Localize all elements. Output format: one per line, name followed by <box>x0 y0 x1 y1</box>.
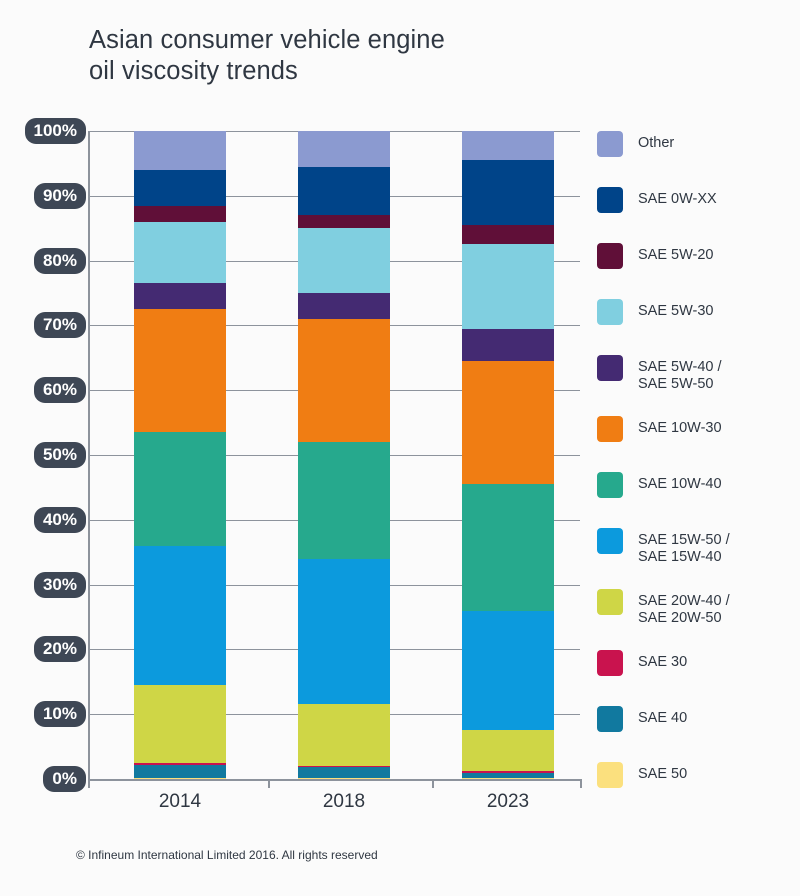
bar-segment[interactable] <box>462 484 554 610</box>
bar-segment[interactable] <box>134 763 226 765</box>
bar-segment[interactable] <box>462 244 554 328</box>
legend-item-label: SAE 30 <box>638 650 687 671</box>
y-axis-line <box>88 131 90 781</box>
bar-segment[interactable] <box>462 329 554 361</box>
bar-segment[interactable] <box>298 228 390 293</box>
legend-item-label: SAE 5W-40 / SAE 5W-50 <box>638 355 722 393</box>
legend-color-swatch <box>597 762 623 788</box>
legend-item-label: Other <box>638 131 674 152</box>
legend-color-swatch <box>597 299 623 325</box>
x-axis-tick-mark <box>88 779 90 788</box>
x-axis-tick-mark <box>580 779 582 788</box>
bar-segment[interactable] <box>298 442 390 559</box>
bar-segment[interactable] <box>134 283 226 309</box>
legend-item[interactable]: SAE 20W-40 / SAE 20W-50 <box>597 589 730 627</box>
bar-segment[interactable] <box>462 361 554 484</box>
x-axis-tick-label-2018: 2018 <box>284 791 404 813</box>
bar-segment[interactable] <box>298 766 390 767</box>
legend-color-swatch <box>597 706 623 732</box>
y-axis-tick-label: 30% <box>34 572 86 598</box>
legend-item[interactable]: SAE 10W-40 <box>597 472 722 498</box>
bar-2014[interactable] <box>134 131 226 779</box>
y-axis-tick-label: 40% <box>34 507 86 533</box>
bar-segment[interactable] <box>298 167 390 216</box>
legend-item[interactable]: SAE 15W-50 / SAE 15W-40 <box>597 528 730 566</box>
plot-area <box>88 131 580 779</box>
legend-item[interactable]: SAE 30 <box>597 650 687 676</box>
legend-item-label: SAE 0W-XX <box>638 187 717 208</box>
legend-item-label: SAE 15W-50 / SAE 15W-40 <box>638 528 730 566</box>
y-axis-tick-label: 70% <box>34 312 86 338</box>
legend-color-swatch <box>597 243 623 269</box>
y-axis-ticks: 100%90%80%70%60%50%40%30%20%10%0% <box>0 131 86 779</box>
bar-segment[interactable] <box>298 559 390 705</box>
legend-color-swatch <box>597 416 623 442</box>
bar-segment[interactable] <box>462 225 554 244</box>
legend-item-label: SAE 5W-30 <box>638 299 714 320</box>
copyright-footer: © Infineum International Limited 2016. A… <box>76 848 378 862</box>
legend-item[interactable]: SAE 5W-40 / SAE 5W-50 <box>597 355 722 393</box>
y-axis-tick-label: 10% <box>34 701 86 727</box>
x-axis-tick-mark <box>268 779 270 788</box>
bar-segment[interactable] <box>134 309 226 432</box>
bar-segment[interactable] <box>462 131 554 160</box>
y-axis-tick-label: 0% <box>43 766 86 792</box>
bar-segment[interactable] <box>462 771 554 772</box>
legend-item[interactable]: SAE 50 <box>597 762 687 788</box>
legend-color-swatch <box>597 528 623 554</box>
legend-item[interactable]: SAE 5W-30 <box>597 299 714 325</box>
bar-segment[interactable] <box>298 293 390 319</box>
y-axis-tick-label: 80% <box>34 248 86 274</box>
bar-segment[interactable] <box>134 222 226 284</box>
bar-segment[interactable] <box>462 160 554 225</box>
bar-segment[interactable] <box>134 170 226 206</box>
x-axis-tick-label-2014: 2014 <box>120 791 240 813</box>
x-axis-tick-label-2023: 2023 <box>448 791 568 813</box>
legend-color-swatch <box>597 589 623 615</box>
bar-segment[interactable] <box>462 730 554 771</box>
legend-item[interactable]: SAE 40 <box>597 706 687 732</box>
x-axis-line <box>88 779 580 781</box>
bar-segment[interactable] <box>298 319 390 442</box>
legend-item[interactable]: SAE 5W-20 <box>597 243 714 269</box>
bar-segment[interactable] <box>298 131 390 167</box>
bar-2023[interactable] <box>462 131 554 779</box>
bar-segment[interactable] <box>298 704 390 766</box>
bar-2018[interactable] <box>298 131 390 779</box>
legend-item-label: SAE 20W-40 / SAE 20W-50 <box>638 589 730 627</box>
bar-segment[interactable] <box>134 131 226 170</box>
bar-segment[interactable] <box>462 611 554 731</box>
legend-item-label: SAE 10W-30 <box>638 416 722 437</box>
legend-color-swatch <box>597 131 623 157</box>
legend-item-label: SAE 40 <box>638 706 687 727</box>
bar-segment[interactable] <box>298 215 390 228</box>
legend-color-swatch <box>597 472 623 498</box>
legend-color-swatch <box>597 355 623 381</box>
bar-segment[interactable] <box>134 765 226 778</box>
legend-item[interactable]: Other <box>597 131 674 157</box>
y-axis-tick-label: 20% <box>34 636 86 662</box>
legend-item[interactable]: SAE 10W-30 <box>597 416 722 442</box>
legend-item-label: SAE 50 <box>638 762 687 783</box>
x-axis-tick-mark <box>432 779 434 788</box>
legend-item-label: SAE 10W-40 <box>638 472 722 493</box>
bar-segment[interactable] <box>134 546 226 685</box>
y-axis-tick-label: 100% <box>25 118 86 144</box>
legend-color-swatch <box>597 187 623 213</box>
bar-segment[interactable] <box>462 773 554 779</box>
y-axis-tick-label: 90% <box>34 183 86 209</box>
y-axis-tick-label: 50% <box>34 442 86 468</box>
y-axis-tick-label: 60% <box>34 377 86 403</box>
chart-title: Asian consumer vehicle engine oil viscos… <box>89 25 559 87</box>
legend-color-swatch <box>597 650 623 676</box>
bar-segment[interactable] <box>134 206 226 222</box>
chart-container: Asian consumer vehicle engine oil viscos… <box>0 0 800 896</box>
legend-item-label: SAE 5W-20 <box>638 243 714 264</box>
bar-segment[interactable] <box>134 685 226 763</box>
bar-segment[interactable] <box>298 767 390 777</box>
bar-segment[interactable] <box>134 432 226 545</box>
legend-item[interactable]: SAE 0W-XX <box>597 187 717 213</box>
